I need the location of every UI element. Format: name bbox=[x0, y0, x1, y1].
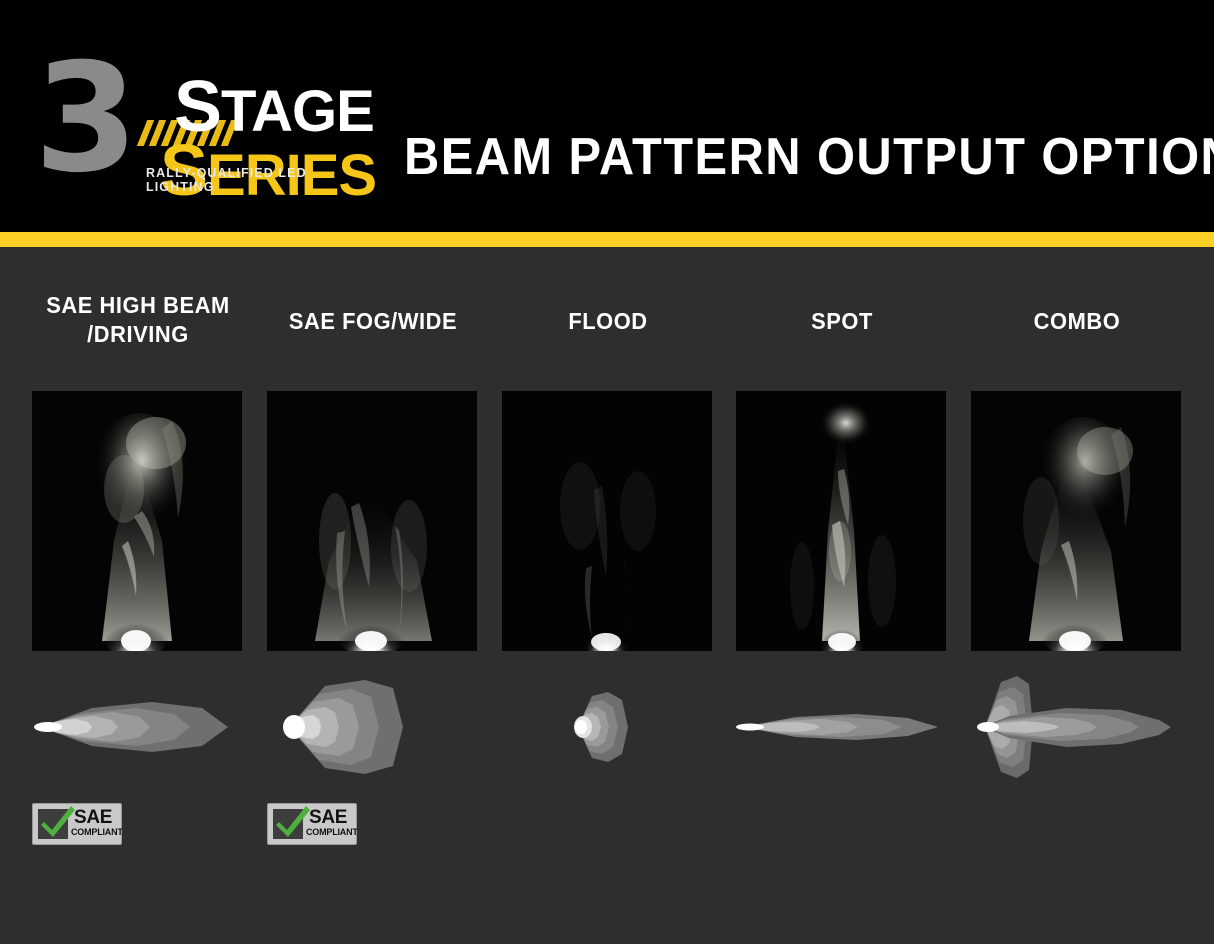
page-title: BEAM PATTERN OUTPUT OPTIONS bbox=[404, 127, 1147, 187]
beam-pattern-diagram-flood bbox=[502, 672, 714, 782]
beam-pattern-diagram-sae-high-beam-driving bbox=[32, 672, 244, 782]
badge-label-sae: SAE bbox=[309, 808, 347, 827]
pattern-long-wide-teardrop-icon bbox=[32, 672, 244, 782]
brand-logo: 3 STAGE SERIES RALLY-QUALIFIED LED LIGHT… bbox=[34, 42, 364, 192]
beam-pattern-board: SAE HIGH BEAM /DRIVING bbox=[0, 247, 1214, 944]
beam-photo-sae-high-beam-driving bbox=[32, 391, 242, 651]
night-trail-photo-icon bbox=[502, 391, 712, 651]
beam-pattern-diagram-sae-fog-wide bbox=[267, 672, 479, 782]
column-header-line1: SAE HIGH BEAM bbox=[37, 291, 238, 320]
column-header-line1: COMBO bbox=[976, 307, 1177, 336]
beam-pattern-diagram-spot bbox=[736, 672, 948, 782]
beam-photo-combo bbox=[971, 391, 1181, 651]
column-header-line1: SPOT bbox=[741, 307, 942, 336]
column-header-spot: SPOT bbox=[741, 307, 942, 336]
logo-numeral-3: 3 bbox=[34, 44, 130, 194]
sae-compliant-badge-sae-high-beam-driving: SAE COMPLIANT bbox=[32, 803, 122, 845]
night-trail-photo-icon bbox=[736, 391, 946, 651]
pattern-spot-plus-flood-icon bbox=[971, 672, 1183, 782]
badge-label-compliant: COMPLIANT bbox=[71, 828, 123, 837]
pattern-narrow-long-sliver-icon bbox=[736, 672, 948, 782]
sae-compliant-badge-sae-fog-wide: SAE COMPLIANT bbox=[267, 803, 357, 845]
column-header-combo: COMBO bbox=[976, 307, 1177, 336]
column-header-sae-high-beam-driving: SAE HIGH BEAM /DRIVING bbox=[37, 291, 238, 349]
beam-pattern-diagram-combo bbox=[971, 672, 1183, 782]
column-header-sae-fog-wide: SAE FOG/WIDE bbox=[272, 307, 473, 336]
night-trail-photo-icon bbox=[971, 391, 1181, 651]
beam-photo-spot bbox=[736, 391, 946, 651]
column-header-flood: FLOOD bbox=[507, 307, 708, 336]
night-trail-photo-icon bbox=[267, 391, 477, 651]
column-header-line1: FLOOD bbox=[507, 307, 708, 336]
badge-label-compliant: COMPLIANT bbox=[306, 828, 358, 837]
header-bar: 3 STAGE SERIES RALLY-QUALIFIED LED LIGHT… bbox=[0, 0, 1214, 232]
column-header-line1: SAE FOG/WIDE bbox=[272, 307, 473, 336]
badge-label-sae: SAE bbox=[74, 808, 112, 827]
column-header-line2: /DRIVING bbox=[37, 320, 238, 349]
pattern-compact-round-icon bbox=[502, 672, 714, 782]
pattern-short-wide-cone-icon bbox=[267, 672, 479, 782]
accent-divider bbox=[0, 232, 1214, 247]
beam-photo-sae-fog-wide bbox=[267, 391, 477, 651]
beam-photo-flood bbox=[502, 391, 712, 651]
logo-tagline: RALLY-QUALIFIED LED LIGHTING bbox=[146, 166, 364, 194]
night-trail-photo-icon bbox=[32, 391, 242, 651]
